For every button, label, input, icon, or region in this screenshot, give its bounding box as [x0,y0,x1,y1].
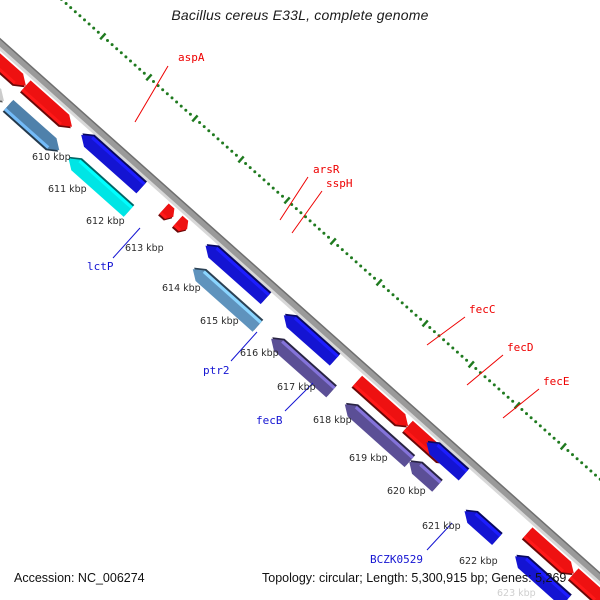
ruler-tick-label: 615 kbp [200,316,239,327]
gene-label-sspH[interactable]: sspH [326,177,353,190]
gene-label-leader [292,191,322,233]
ruler-tick-label: 613 kbp [125,243,164,254]
gene-glyph[interactable] [465,510,503,545]
gene-label-fecB[interactable]: fecB [256,414,283,427]
gene-label-arsR[interactable]: arsR [313,163,340,176]
genome-map-canvas[interactable] [0,0,600,600]
genome-map-viewer[interactable]: Bacillus cereus E33L, complete genome 61… [0,0,600,600]
gene-label-leader [427,317,465,345]
ruler-tick-label: 618 kbp [313,415,352,426]
gene-label-aspA[interactable]: aspA [178,51,205,64]
ruler-tick-label: 610 kbp [32,152,71,163]
ruler-tick-label: 619 kbp [349,453,388,464]
gene-label-fecC[interactable]: fecC [469,303,496,316]
gene-label-leader [503,389,539,418]
gene-label-fecD[interactable]: fecD [507,341,534,354]
gene-glyph[interactable] [158,204,174,221]
ruler-tick-label: 614 kbp [162,283,201,294]
page-title: Bacillus cereus E33L, complete genome [0,7,600,23]
ruler-tick-label: 612 kbp [86,216,125,227]
gene-label-fecE[interactable]: fecE [543,375,570,388]
gene-label-BCZK0529[interactable]: BCZK0529 [370,553,423,566]
genome-backbone [0,22,600,600]
ruler-tick-label: 617 kbp [277,382,316,393]
ruler-tick-label: 616 kbp [240,348,279,359]
ruler-tick-label: 611 kbp [48,184,87,195]
gene-glyph[interactable] [172,216,188,233]
gene-label-leader [280,177,308,220]
gene-label-lctP[interactable]: lctP [87,260,114,273]
ruler-tick-label: 620 kbp [387,486,426,497]
gene-label-ptr2[interactable]: ptr2 [203,364,230,377]
ruler-tick-label: 623 kbp [497,588,536,599]
topology-status: Topology: circular; Length: 5,300,915 bp… [262,571,566,585]
ruler-tick-label: 622 kbp [459,556,498,567]
gene-label-leader [467,355,503,385]
accession-status: Accession: NC_006274 [14,571,145,585]
ruler-tick-label: 621 kbp [422,521,461,532]
